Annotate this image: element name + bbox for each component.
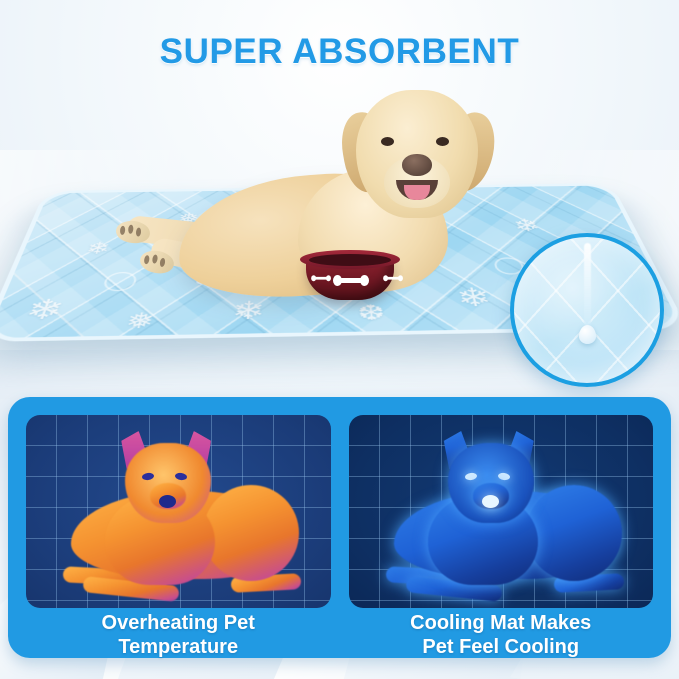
caption-overheating: Overheating Pet Temperature: [26, 611, 331, 660]
hero-product-photo: ❄ ❅ ❄ ❆ ❄ ❅ ❄ ❅ ❄ ❆ ❄ ❅: [0, 92, 679, 392]
thermal-card-cooling: [349, 415, 654, 608]
water-droplet: [579, 325, 596, 344]
water-stream: [584, 243, 591, 329]
page-title: SUPER ABSORBENT: [0, 32, 679, 72]
dog-eye: [381, 137, 394, 146]
bone-icon: [311, 275, 319, 282]
dog-food-bowl: [300, 250, 400, 304]
snowflake-icon: ❄: [84, 240, 113, 257]
caption-line-1: Overheating Pet: [26, 611, 331, 635]
snowflake-icon: ❅: [123, 311, 156, 333]
bone-icon: [383, 275, 391, 282]
absorbency-zoom-circle: [510, 233, 664, 387]
dog-eye: [436, 137, 449, 146]
caption-cooling: Cooling Mat Makes Pet Feel Cooling: [349, 611, 654, 660]
caption-line-2: Temperature: [26, 635, 331, 659]
comparison-panel: Overheating Pet Temperature Cooling Mat …: [8, 397, 671, 658]
caption-line-2: Pet Feel Cooling: [349, 635, 654, 659]
snowflake-icon: ❄: [21, 296, 68, 324]
shiba-inu-thermal-hot: [53, 429, 303, 601]
thermal-card-overheating: [26, 415, 331, 608]
dog-nose: [402, 154, 432, 176]
caption-line-1: Cooling Mat Makes: [349, 611, 654, 635]
product-infographic: SUPER ABSORBENT ❄ ❅ ❄ ❆ ❄ ❅ ❄ ❅ ❄ ❆ ❄ ❅: [0, 0, 679, 679]
shiba-inu-thermal-cool: [376, 429, 626, 601]
pattern-swirl: [102, 272, 139, 292]
bone-icon: [333, 274, 369, 287]
